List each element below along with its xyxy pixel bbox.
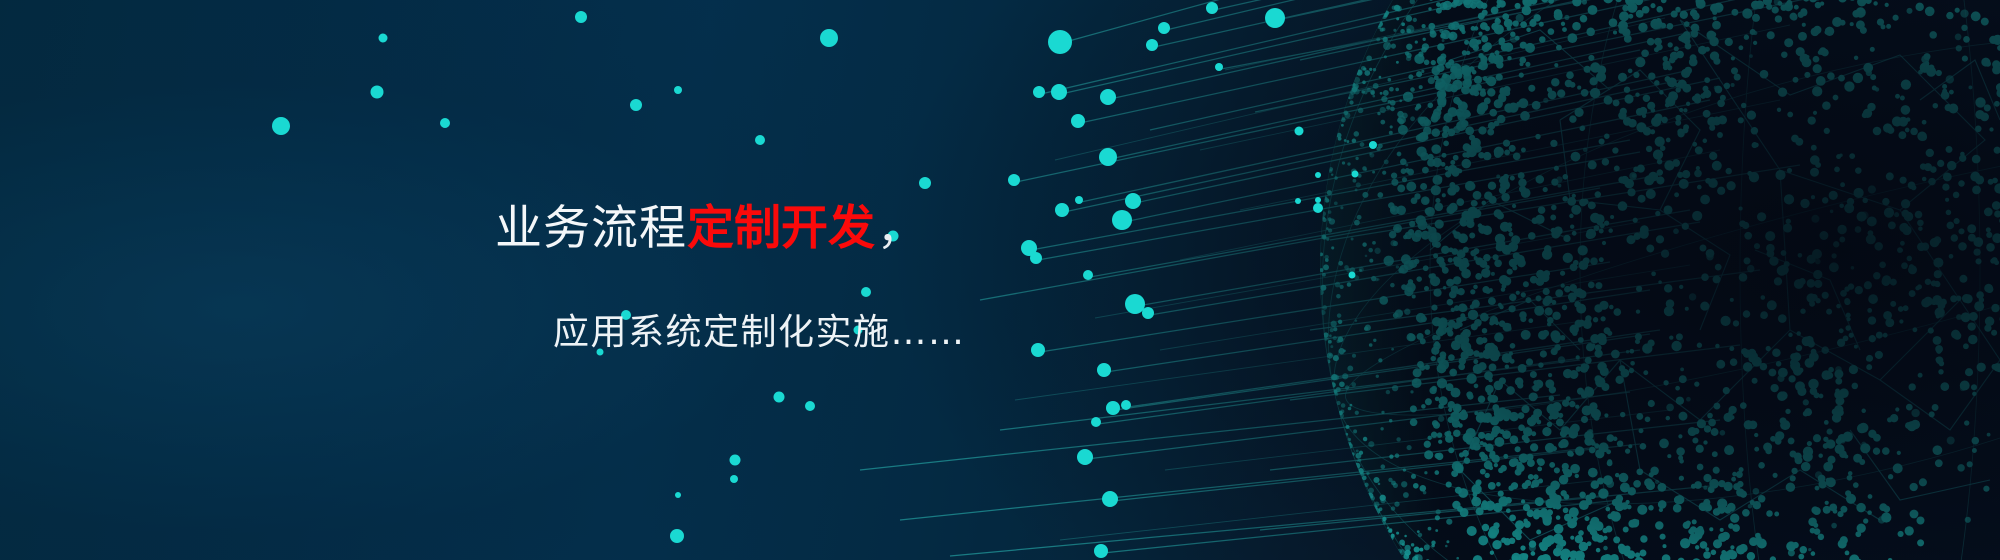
hero-banner: 业务流程定制开发， 应用系统定制化实施…… bbox=[0, 0, 2000, 560]
accent-dots-layer bbox=[0, 0, 2000, 560]
stray-dots bbox=[272, 11, 931, 543]
ray-endpoint-dots bbox=[1008, 2, 1377, 558]
